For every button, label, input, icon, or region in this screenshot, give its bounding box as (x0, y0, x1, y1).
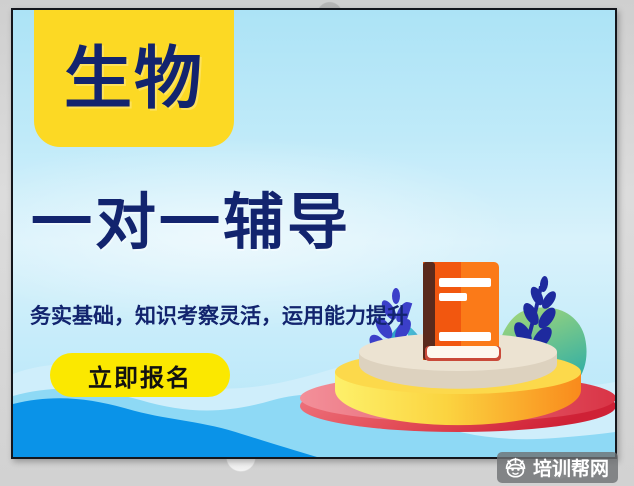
subject-badge: 生物 (34, 8, 234, 147)
enroll-now-button[interactable]: 立即报名 (50, 353, 230, 397)
poster-subtitle: 务实基础，知识考察灵活，运用能力提升 (30, 300, 408, 330)
poster-headline: 一对一辅导 (31, 192, 351, 253)
subject-badge-label: 生物 (64, 40, 204, 114)
poster-card: 生物 一对一辅导 务实基础，知识考察灵活，运用能力提升 立即报名 (11, 8, 617, 459)
sun-face-icon (504, 457, 527, 478)
enroll-now-label: 立即报名 (88, 358, 192, 393)
book-podium-illustration (293, 260, 617, 440)
watermark: 培训帮网 (497, 452, 618, 483)
watermark-text: 培训帮网 (533, 454, 609, 481)
